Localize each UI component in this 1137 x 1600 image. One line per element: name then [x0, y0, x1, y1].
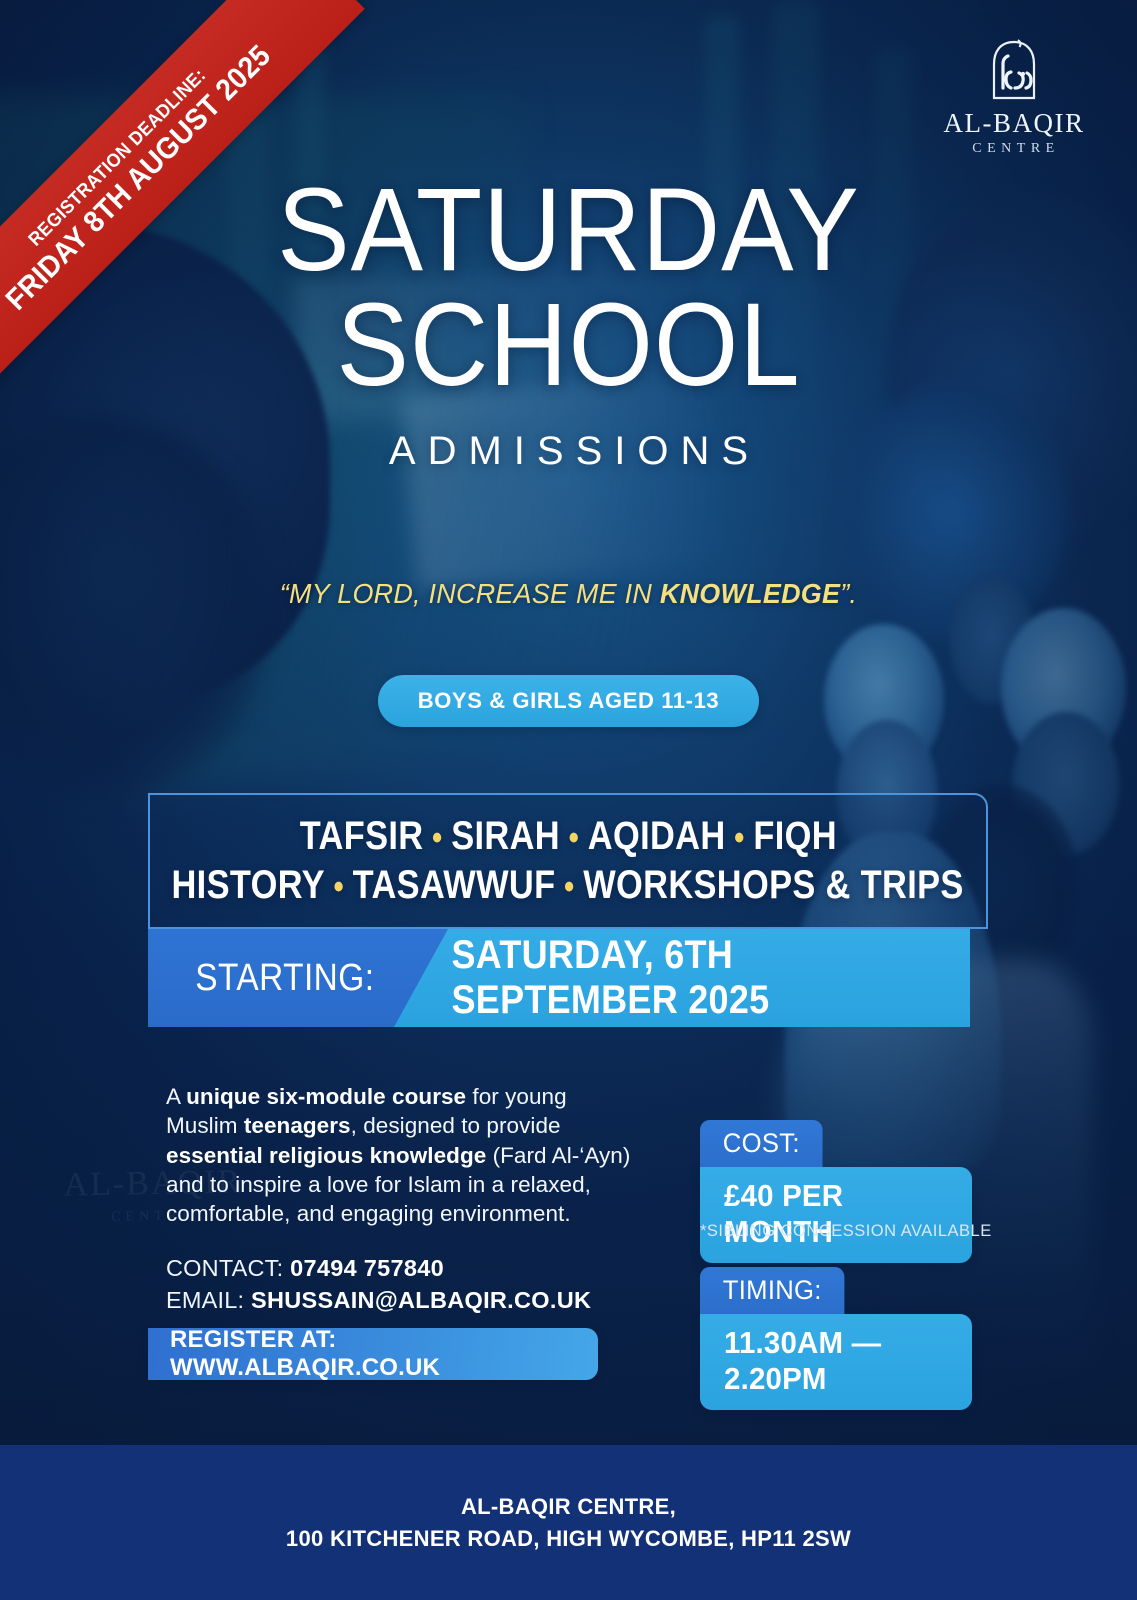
subject-tafsir: TAFSIR [299, 814, 423, 858]
starting-value-panel: SATURDAY, 6TH SEPTEMBER 2025 [392, 929, 970, 1027]
bullet-dot-icon: • [560, 819, 588, 857]
cost-card: COST: £40 PER MONTH [700, 1120, 972, 1263]
footer-street-address: 100 KITCHENER ROAD, HIGH WYCOMBE, HP11 2… [286, 1523, 851, 1555]
age-badge: BOYS & GIRLS AGED 11-13 [378, 675, 760, 727]
desc-seg-3: , designed to provide [351, 1113, 561, 1138]
starting-label: STARTING: [195, 957, 374, 1000]
subject-history: HISTORY [172, 863, 325, 907]
footer-address: AL-BAQIR CENTRE, 100 KITCHENER ROAD, HIG… [0, 1445, 1137, 1600]
sibling-concession-note: *SIBLING CONCESSION AVAILABLE [700, 1222, 992, 1241]
starting-bar: STARTING: SATURDAY, 6TH SEPTEMBER 2025 [148, 929, 970, 1027]
quote-text: “MY LORD, INCREASE ME IN KNOWLEDGE”. [23, 578, 1115, 610]
desc-seg-1: A [166, 1084, 186, 1109]
timing-label: TIMING: [700, 1267, 844, 1314]
bullet-dot-icon: • [423, 819, 451, 857]
title-line-saturday: SATURDAY [45, 176, 1091, 285]
title-subtitle-admissions: ADMISSIONS [0, 429, 1137, 474]
bullet-dot-icon: • [725, 819, 753, 857]
logo-subtitle: CENTRE [943, 142, 1089, 156]
contact-phone-value[interactable]: 07494 757840 [290, 1255, 444, 1281]
starting-date: SATURDAY, 6TH SEPTEMBER 2025 [421, 933, 941, 1023]
subjects-box: TAFSIR•SIRAH•AQIDAH•FIQH HISTORY•TASAWWU… [148, 793, 988, 929]
register-button[interactable]: REGISTER AT: WWW.ALBAQIR.CO.UK [148, 1328, 598, 1380]
desc-bold-knowledge: essential religious knowledge [166, 1143, 486, 1168]
quote-prefix: “MY LORD, INCREASE ME IN [280, 578, 660, 609]
register-prefix: REGISTER AT: [170, 1326, 336, 1353]
subject-workshops-trips: WORKSHOPS & TRIPS [584, 863, 964, 907]
timing-value-panel: 11.30AM — 2.20PM [700, 1314, 972, 1410]
cost-label: COST: [700, 1120, 823, 1167]
register-label: REGISTER AT: WWW.ALBAQIR.CO.UK [170, 1326, 598, 1382]
bullet-dot-icon: • [325, 868, 353, 906]
subjects-row-2: HISTORY•TASAWWUF•WORKSHOPS & TRIPS [172, 861, 964, 910]
contact-block: CONTACT: 07494 757840 EMAIL: SHUSSAIN@AL… [166, 1253, 646, 1317]
timing-card: TIMING: 11.30AM — 2.20PM [700, 1267, 972, 1410]
subject-aqidah: AQIDAH [587, 814, 725, 858]
footer-centre-name: AL-BAQIR CENTRE, [461, 1491, 676, 1523]
poster-root: AL-BAQIR CENTRE REGISTRATION DEADLINE: F… [0, 0, 1137, 1600]
subject-tasawwuf: TASAWWUF [353, 863, 556, 907]
subject-fiqh: FIQH [753, 814, 837, 858]
age-badge-row: BOYS & GIRLS AGED 11-13 [0, 675, 1137, 727]
subject-sirah: SIRAH [451, 814, 560, 858]
contact-email-label: EMAIL: [166, 1287, 251, 1313]
timing-head-wrap: TIMING: [700, 1267, 972, 1314]
quote-emphasis: KNOWLEDGE [660, 578, 840, 609]
timing-value: 11.30AM — 2.20PM [724, 1325, 937, 1397]
contact-phone-line: CONTACT: 07494 757840 [166, 1253, 646, 1285]
title-line-school: SCHOOL [45, 291, 1091, 400]
bullet-dot-icon: • [556, 868, 584, 906]
al-baqir-logo: AL-BAQIR CENTRE [939, 38, 1089, 156]
desc-bold-course: unique six-module course [186, 1084, 466, 1109]
desc-bold-teenagers: teenagers [244, 1113, 351, 1138]
contact-email-line: EMAIL: SHUSSAIN@ALBAQIR.CO.UK [166, 1285, 646, 1317]
quote-suffix: ”. [840, 578, 857, 609]
page-title: SATURDAY SCHOOL ADMISSIONS [0, 176, 1137, 474]
logo-arch-icon [939, 38, 1089, 108]
logo-name: AL-BAQIR [939, 110, 1089, 137]
register-url: WWW.ALBAQIR.CO.UK [170, 1354, 440, 1381]
contact-phone-label: CONTACT: [166, 1255, 290, 1281]
contact-email-value[interactable]: SHUSSAIN@ALBAQIR.CO.UK [251, 1287, 591, 1313]
cost-value-panel: £40 PER MONTH [700, 1167, 972, 1263]
subjects-row-1: TAFSIR•SIRAH•AQIDAH•FIQH [299, 812, 836, 861]
course-description: A unique six-module course for young Mus… [166, 1082, 636, 1228]
cost-head-wrap: COST: [700, 1120, 972, 1167]
